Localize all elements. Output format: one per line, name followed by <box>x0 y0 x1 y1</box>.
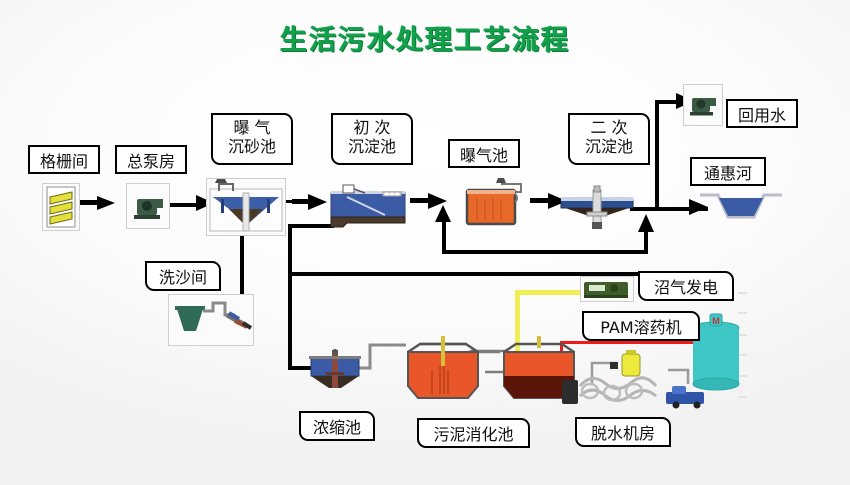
label-reclaimed-water[interactable]: 回用水 <box>726 99 798 128</box>
bar-screen-icon <box>42 183 80 231</box>
aerated-grit-chamber-icon <box>206 178 286 236</box>
label-grating-room[interactable]: 格栅间 <box>28 145 100 174</box>
belt-press-icon <box>560 348 710 410</box>
sand-washer-icon <box>168 294 254 346</box>
label-dewatering-house[interactable]: 脱水机房 <box>575 417 671 447</box>
label-sludge-digester[interactable]: 污泥消化池 <box>417 418 530 448</box>
label-pam-dosing-machine[interactable]: PAM溶药机 <box>582 311 700 341</box>
label-tonghui-river[interactable]: 通惠河 <box>690 157 766 186</box>
svg-text:M: M <box>712 316 720 326</box>
primary-settling-tank-icon <box>327 183 413 231</box>
aeration-tank-icon <box>463 178 527 232</box>
label-primary-settling-tank[interactable]: 初 次 沉淀池 <box>331 113 413 165</box>
thickener-tank-icon <box>307 350 363 394</box>
label-biogas-power[interactable]: 沼气发电 <box>638 271 734 301</box>
sludge-piping-layer <box>0 0 850 485</box>
label-sand-washing-room[interactable]: 洗沙间 <box>145 261 221 291</box>
label-thickener[interactable]: 浓缩池 <box>299 411 375 441</box>
label-aeration-tank[interactable]: 曝气池 <box>448 139 520 168</box>
label-pump-house[interactable]: 总泵房 <box>115 145 187 174</box>
biogas-generator-icon <box>580 276 634 302</box>
reclaimed-water-pump-icon <box>683 84 723 126</box>
label-secondary-settling-tank[interactable]: 二 次 沉淀池 <box>568 113 650 165</box>
pump-icon <box>126 183 170 229</box>
label-aerated-grit-chamber[interactable]: 曝 气 沉砂池 <box>211 113 293 165</box>
secondary-settling-tank-icon <box>559 186 635 234</box>
river-channel-icon <box>700 189 782 225</box>
diagram-canvas: 生活污水处理工艺流程 <box>0 0 850 485</box>
